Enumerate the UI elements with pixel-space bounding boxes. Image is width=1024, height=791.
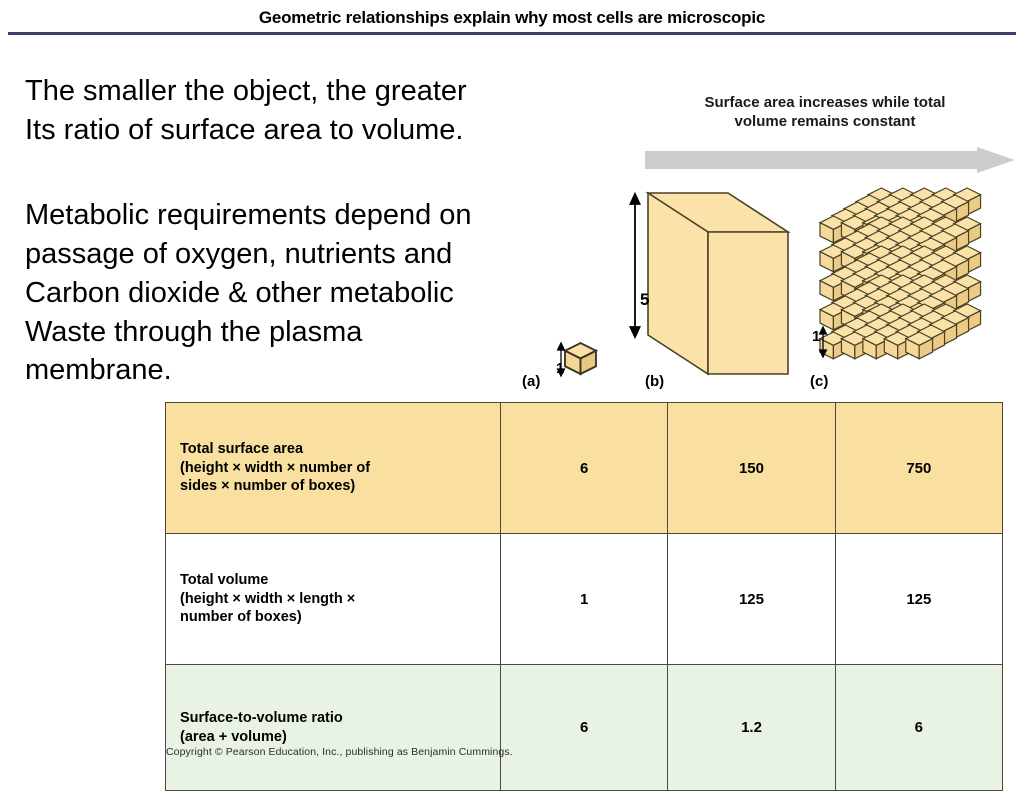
row-label-surface-area: Total surface area (height × width × num… xyxy=(166,403,501,534)
slide-canvas: Geometric relationships explain why most… xyxy=(0,0,1024,768)
cell-surface-area-c: 750 xyxy=(835,403,1002,534)
body-paragraph-2: Metabolic requirements depend on passage… xyxy=(25,196,585,390)
figure-label-c: (c) xyxy=(810,373,828,390)
right-arrow-icon xyxy=(645,147,1015,173)
cube-figures xyxy=(520,180,1020,400)
row-label-line-2: (height × width × number of xyxy=(180,459,500,478)
cell-total-volume-c: 125 xyxy=(835,534,1002,665)
cell-total-volume-a: 1 xyxy=(501,534,668,665)
body-paragraph-1: The smaller the object, the greater Its … xyxy=(25,72,585,150)
figure-caption-line-2: volume remains constant xyxy=(640,113,1010,132)
cube-c-graphic xyxy=(820,188,981,359)
table-row: Surface-to-volume ratio (area + volume) … xyxy=(166,665,1003,791)
cell-surface-area-a: 6 xyxy=(501,403,668,534)
cube-a-graphic xyxy=(565,343,596,374)
figure-label-a: (a) xyxy=(522,373,540,390)
row-label-surface-to-volume-ratio: Surface-to-volume ratio (area + volume) xyxy=(166,665,501,791)
cell-ratio-c: 6 xyxy=(835,665,1002,791)
row-label-line-2: (height × width × length × xyxy=(180,590,500,609)
row-label-total-volume: Total volume (height × width × length × … xyxy=(166,534,501,665)
row-label-line-1: Surface-to-volume ratio xyxy=(180,709,500,728)
title-divider xyxy=(8,32,1016,35)
copyright-notice: Copyright © Pearson Education, Inc., pub… xyxy=(166,746,513,758)
figure-caption: Surface area increases while total volum… xyxy=(640,94,1010,132)
table-row: Total volume (height × width × length × … xyxy=(166,534,1003,665)
cell-total-volume-b: 125 xyxy=(668,534,835,665)
cube-b-dimension-arrow xyxy=(630,194,639,337)
cube-a-dimension-label: 1 xyxy=(556,360,564,377)
row-label-line-3: sides × number of boxes) xyxy=(180,477,500,496)
row-label-line-1: Total volume xyxy=(180,571,500,590)
cube-c-dimension-label: 1 xyxy=(812,328,820,345)
row-label-line-2: (area + volume) xyxy=(180,728,500,747)
cell-ratio-b: 1.2 xyxy=(668,665,835,791)
cube-b-graphic xyxy=(648,193,788,374)
row-label-line-1: Total surface area xyxy=(180,440,500,459)
cell-ratio-a: 6 xyxy=(501,665,668,791)
surface-volume-table: Total surface area (height × width × num… xyxy=(165,402,1003,791)
figure-caption-line-1: Surface area increases while total xyxy=(640,94,1010,113)
table-row: Total surface area (height × width × num… xyxy=(166,403,1003,534)
figure-label-b: (b) xyxy=(645,373,664,390)
cube-b-dimension-label: 5 xyxy=(640,290,649,310)
cell-surface-area-b: 150 xyxy=(668,403,835,534)
row-label-line-3: number of boxes) xyxy=(180,608,500,627)
page-title: Geometric relationships explain why most… xyxy=(0,8,1024,28)
